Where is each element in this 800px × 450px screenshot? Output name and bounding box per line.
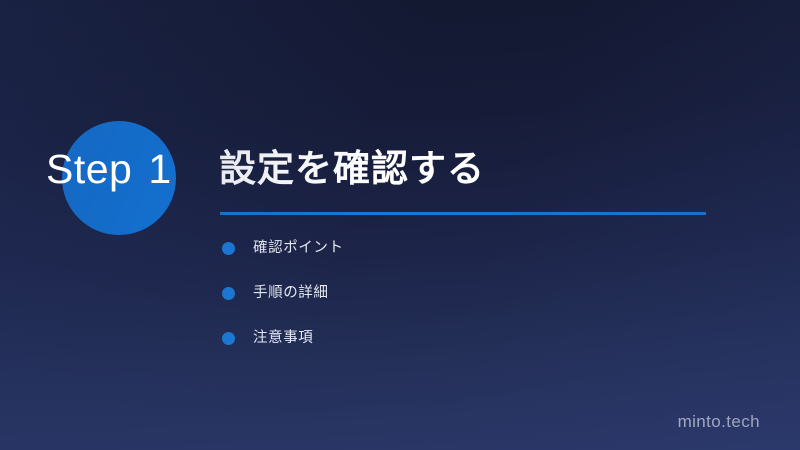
- bullet-label: 注意事項: [253, 331, 313, 346]
- bullet-dot-icon: [222, 332, 235, 345]
- bullet-dot-icon: [222, 287, 235, 300]
- bullet-dot-icon: [222, 242, 235, 255]
- step-number: 1: [148, 146, 171, 192]
- presentation-slide: Step1 設定を確認する 確認ポイント 手順の詳細 注意事項 minto.te…: [0, 0, 800, 450]
- step-label: Step1: [46, 149, 172, 190]
- slide-title: 設定を確認する: [219, 148, 485, 189]
- bullet-label: 手順の詳細: [253, 286, 329, 301]
- list-item: 手順の詳細: [222, 281, 702, 305]
- watermark-brand: minto.tech: [678, 413, 760, 430]
- bullet-label: 確認ポイント: [253, 241, 344, 256]
- step-word: Step: [46, 146, 132, 192]
- bullet-list: 確認ポイント 手順の詳細 注意事項: [222, 236, 702, 350]
- list-item: 確認ポイント: [222, 236, 702, 260]
- list-item: 注意事項: [222, 326, 702, 350]
- title-divider: [220, 212, 706, 215]
